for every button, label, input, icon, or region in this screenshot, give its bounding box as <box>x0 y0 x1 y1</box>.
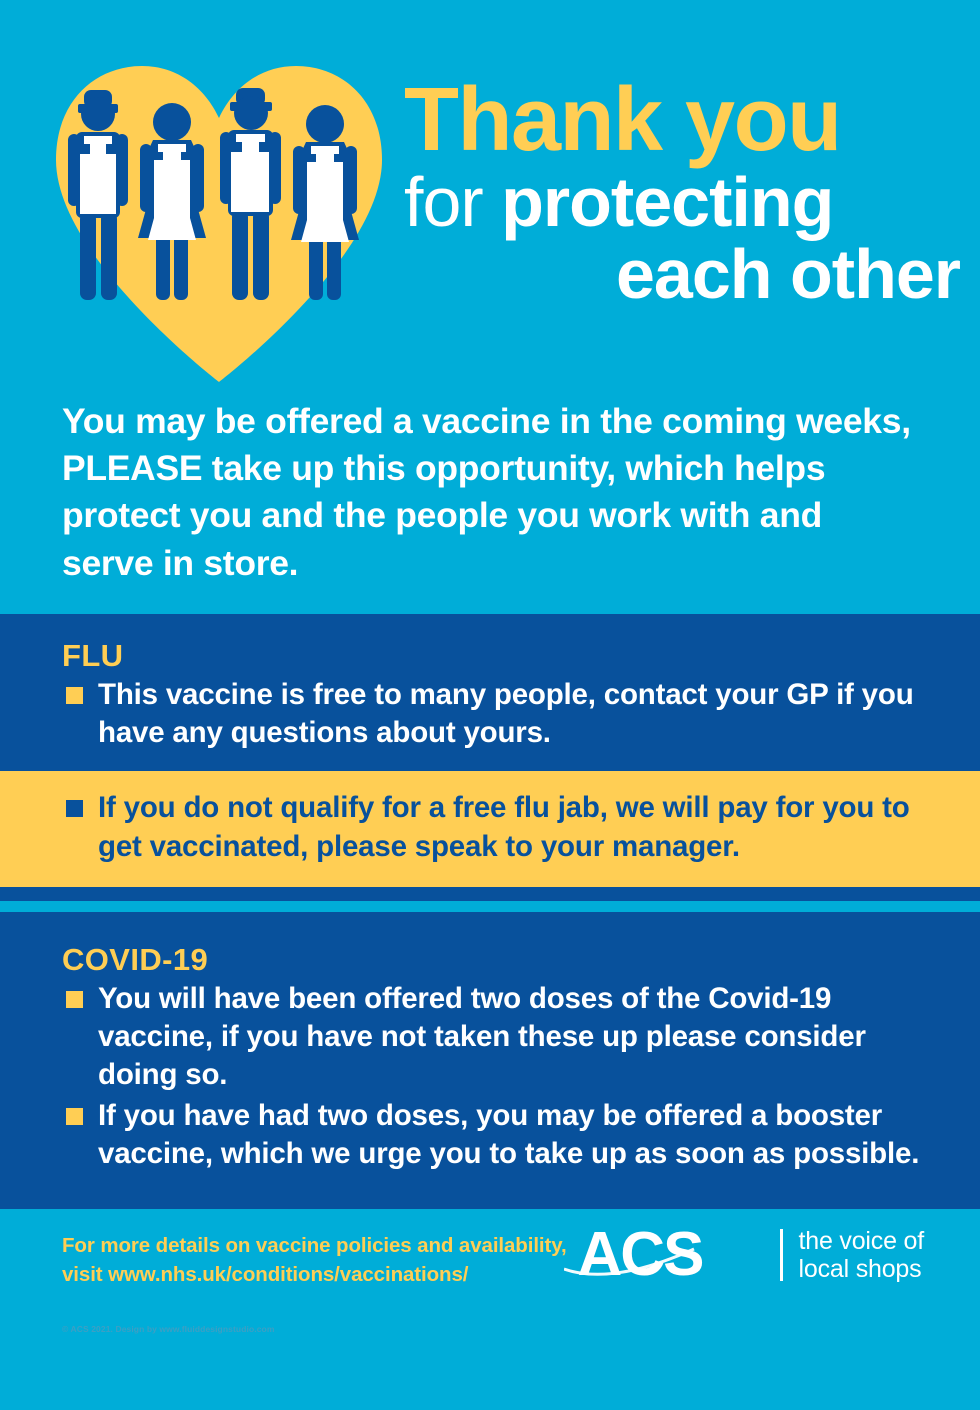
covid-heading: COVID-19 <box>62 942 930 978</box>
list-item: If you do not qualify for a free flu jab… <box>62 789 930 867</box>
list-item-text: You will have been offered two doses of … <box>98 982 866 1092</box>
title-word-protecting: protecting <box>501 163 833 241</box>
acs-tagline-line1: the voice of <box>799 1227 924 1255</box>
square-bullet-icon <box>66 1108 83 1125</box>
poster: Thank you for protecting each other You … <box>0 0 980 1410</box>
hero-title: Thank you for protecting each other <box>404 82 964 310</box>
intro-section: You may be offered a vaccine in the comi… <box>0 392 980 614</box>
list-item: If you have had two doses, you may be of… <box>62 1097 930 1174</box>
acs-wordmark: ACS <box>578 1223 774 1287</box>
logo-divider <box>780 1229 783 1281</box>
flu-bullet-list: This vaccine is free to many people, con… <box>62 676 922 753</box>
list-item-text: This vaccine is free to many people, con… <box>98 678 914 749</box>
flu-section: FLU This vaccine is free to many people,… <box>0 614 980 771</box>
footer-details-line1: For more details on vaccine policies and… <box>62 1231 567 1260</box>
heart-workers-illustration <box>44 52 394 382</box>
footer-section: For more details on vaccine policies and… <box>0 1209 980 1347</box>
hero-section: Thank you for protecting each other <box>0 0 980 392</box>
acs-word-text: ACS <box>578 1223 774 1287</box>
footer-details: For more details on vaccine policies and… <box>62 1231 567 1289</box>
flu-highlight-section: If you do not qualify for a free flu jab… <box>0 771 980 887</box>
square-bullet-icon <box>66 991 83 1008</box>
covid-section: COVID-19 You will have been offered two … <box>0 912 980 1210</box>
list-item: You will have been offered two doses of … <box>62 980 930 1095</box>
title-line-thank-you: Thank you <box>404 82 964 159</box>
flu-highlight-bullet-list: If you do not qualify for a free flu jab… <box>62 789 930 867</box>
divider-cyan <box>0 901 980 912</box>
footer-details-line2[interactable]: visit www.nhs.uk/conditions/vaccinations… <box>62 1260 567 1289</box>
footer-credit: © ACS 2021. Design by www.fluiddesignstu… <box>62 1324 274 1334</box>
intro-paragraph: You may be offered a vaccine in the comi… <box>62 398 922 587</box>
divider-blue-top <box>0 887 980 901</box>
list-item-text: If you have had two doses, you may be of… <box>98 1099 919 1170</box>
acs-tagline-line2: local shops <box>799 1255 924 1283</box>
square-bullet-icon <box>66 687 83 704</box>
covid-bullet-list: You will have been offered two doses of … <box>62 980 930 1174</box>
title-line-each-other: each other <box>404 239 964 310</box>
title-word-for: for <box>404 163 501 241</box>
title-line-for-protecting: for protecting <box>404 167 964 238</box>
flu-heading: FLU <box>62 638 922 674</box>
list-item-text: If you do not qualify for a free flu jab… <box>98 791 910 863</box>
list-item: This vaccine is free to many people, con… <box>62 676 922 753</box>
square-bullet-icon <box>66 800 83 817</box>
acs-logo: ACS the voice of local shops <box>578 1223 924 1287</box>
acs-tagline: the voice of local shops <box>799 1227 924 1283</box>
